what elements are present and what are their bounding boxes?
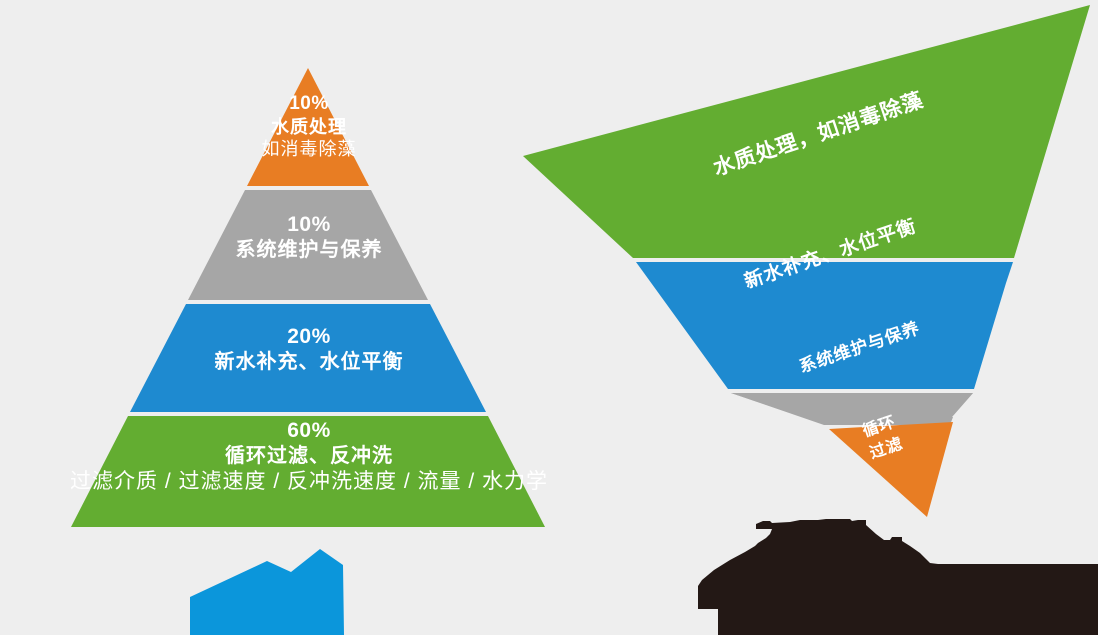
black-silhouette-shape <box>698 519 1098 635</box>
left-pyramid-group <box>71 68 545 527</box>
diagram-canvas: 10% 水质处理 如消毒除藻 10% 系统维护与保养 20% 新水补充、水位平衡… <box>0 0 1098 635</box>
pyramid-level-orange[interactable] <box>247 68 369 186</box>
diagram-vector-layer <box>0 0 1098 635</box>
funnel-level-orange[interactable] <box>829 422 953 517</box>
pyramid-level-blue[interactable] <box>130 304 486 412</box>
funnel-level-green[interactable] <box>523 5 1090 258</box>
blue-mountain-shape <box>190 549 344 635</box>
right-funnel-group <box>523 5 1090 517</box>
pyramid-level-green[interactable] <box>71 416 545 527</box>
pyramid-level-gray[interactable] <box>188 190 428 300</box>
funnel-level-blue[interactable] <box>636 262 1013 389</box>
